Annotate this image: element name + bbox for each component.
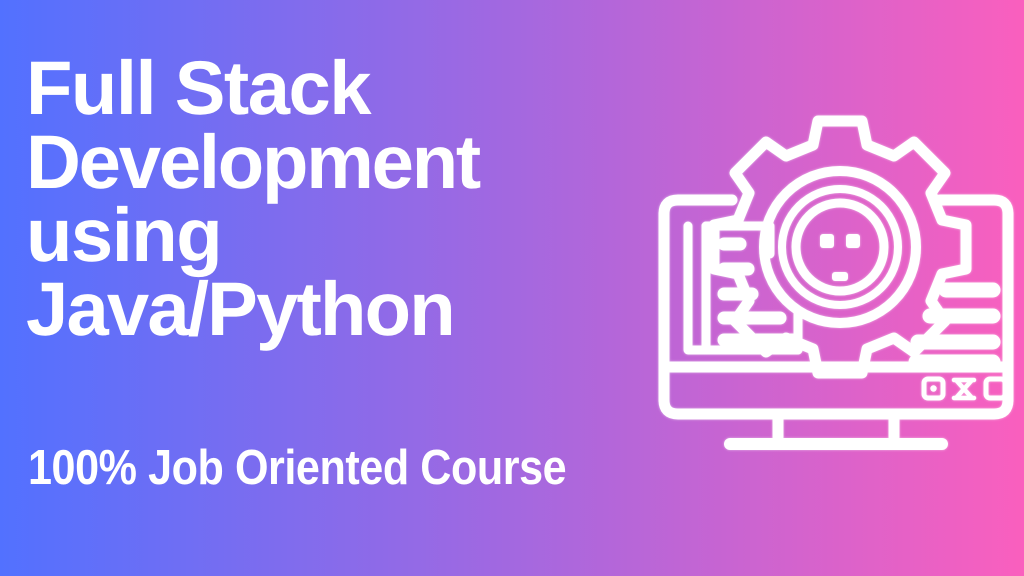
headline-group: Full Stack Development using Java/Python (26, 52, 686, 347)
gear-cog (714, 121, 966, 373)
title-line-3: using (26, 199, 686, 273)
monitor-with-gear-icon (648, 104, 1024, 464)
title-line-4: Java/Python (26, 273, 686, 347)
taskbar-icons (924, 379, 1005, 398)
taskbar-icon-square-right (986, 379, 1005, 398)
gear-inner-rings (764, 171, 916, 323)
subtitle-tagline: 100% Job Oriented Course (28, 443, 566, 494)
gear-center-socket (796, 203, 884, 291)
course-promo-banner: Full Stack Development using Java/Python… (0, 0, 1024, 576)
title-line-1: Full Stack (26, 52, 686, 126)
title-line-2: Development (26, 126, 686, 200)
taskbar-icon-hourglass (954, 380, 974, 398)
